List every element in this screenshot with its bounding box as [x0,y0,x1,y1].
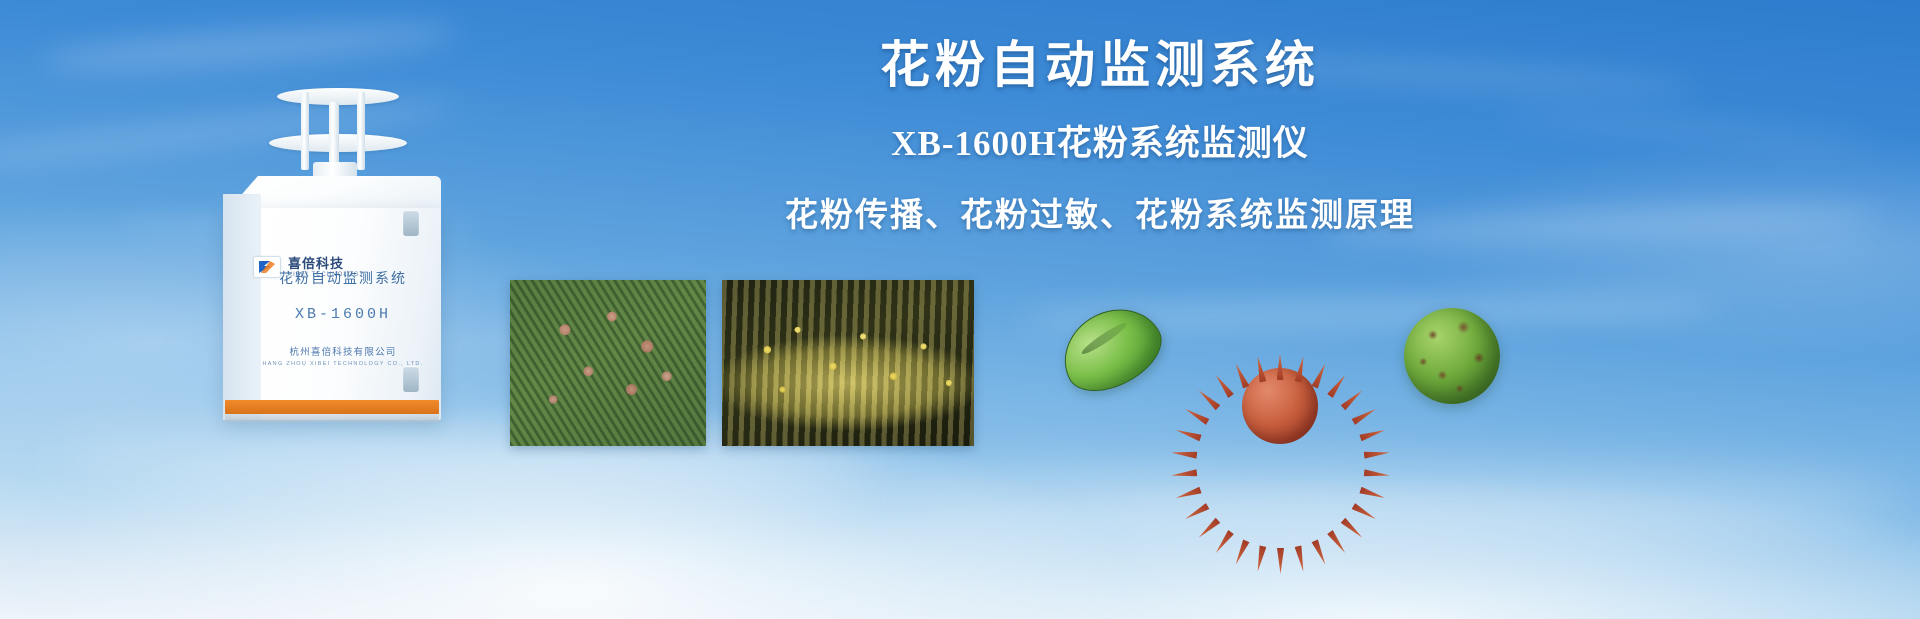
pollen-spike [1196,518,1220,541]
pollen-spike [1363,449,1390,459]
page-title: 花粉自动监测系统 [600,38,1600,93]
shield-post [301,92,309,170]
pollen-spike [1174,427,1201,442]
pollen-spike [1311,539,1328,566]
pollen-spike [1232,362,1249,389]
banner-heading-group: 花粉自动监测系统 XB-1600H花粉系统监测仪 花粉传播、花粉过敏、花粉系统监… [600,0,1600,236]
shield-post [357,92,365,170]
pollen-spike [1232,539,1249,566]
pollen-spike [1183,406,1209,425]
pollen-spike [1311,362,1328,389]
pollen-spike [1327,373,1348,398]
pollen-spike [1254,545,1266,572]
device-panel-title: 花粉自动监测系统 [205,268,455,288]
cloud-streak-icon [39,15,460,78]
device-company-en: HANG ZHOU XIBEI TECHNOLOGY CO., LTD. [205,361,455,367]
pollen-spike [1327,530,1348,555]
pollen-monitoring-banner: 喜倍科技 XIBEI TECHNOLOGY 花粉自动监测系统 XB-1600H … [0,0,1920,619]
cabinet-base-shadow [225,414,439,422]
pollen-spike [1183,503,1209,522]
pollen-spike [1340,388,1364,411]
catkin-flower-pollen-photo [722,280,974,446]
cloud-bank-icon [900,470,1900,540]
pollen-spike [1363,469,1390,479]
pollen-spike [1359,487,1386,502]
cabinet-latch-upper [403,210,419,236]
pollen-spike [1351,503,1377,522]
pollen-spike [1294,545,1306,572]
pollen-spike [1213,373,1234,398]
cypress-pollen-cones-photo [510,280,706,446]
cabinet-latch-lower [403,366,419,392]
pollen-spike [1170,449,1197,459]
pollen-spike [1196,388,1220,411]
pollen-spike [1170,469,1197,479]
green-smooth-pollen-grain [1049,292,1174,405]
pollen-spike [1359,427,1386,442]
pollen-spike [1351,406,1377,425]
pollen-spike [1174,487,1201,502]
green-rough-pollen-grain [1404,308,1500,404]
pollen-monitor-device: 喜倍科技 XIBEI TECHNOLOGY 花粉自动监测系统 XB-1600H … [205,78,455,428]
device-panel-model: XB-1600H [205,306,455,323]
page-subtitle: XB-1600H花粉系统监测仪 [600,115,1600,166]
red-spiky-pollen-grain [1222,348,1338,464]
pollen-spike [1277,354,1284,380]
pollen-spike [1213,530,1234,555]
pollen-spike [1340,518,1364,541]
device-company-cn: 杭州喜倍科技有限公司 [205,344,455,358]
cabinet-base-stripe [225,400,439,414]
page-tagline: 花粉传播、花粉过敏、花粉系统监测原理 [600,188,1600,236]
pollen-spike [1277,548,1284,574]
